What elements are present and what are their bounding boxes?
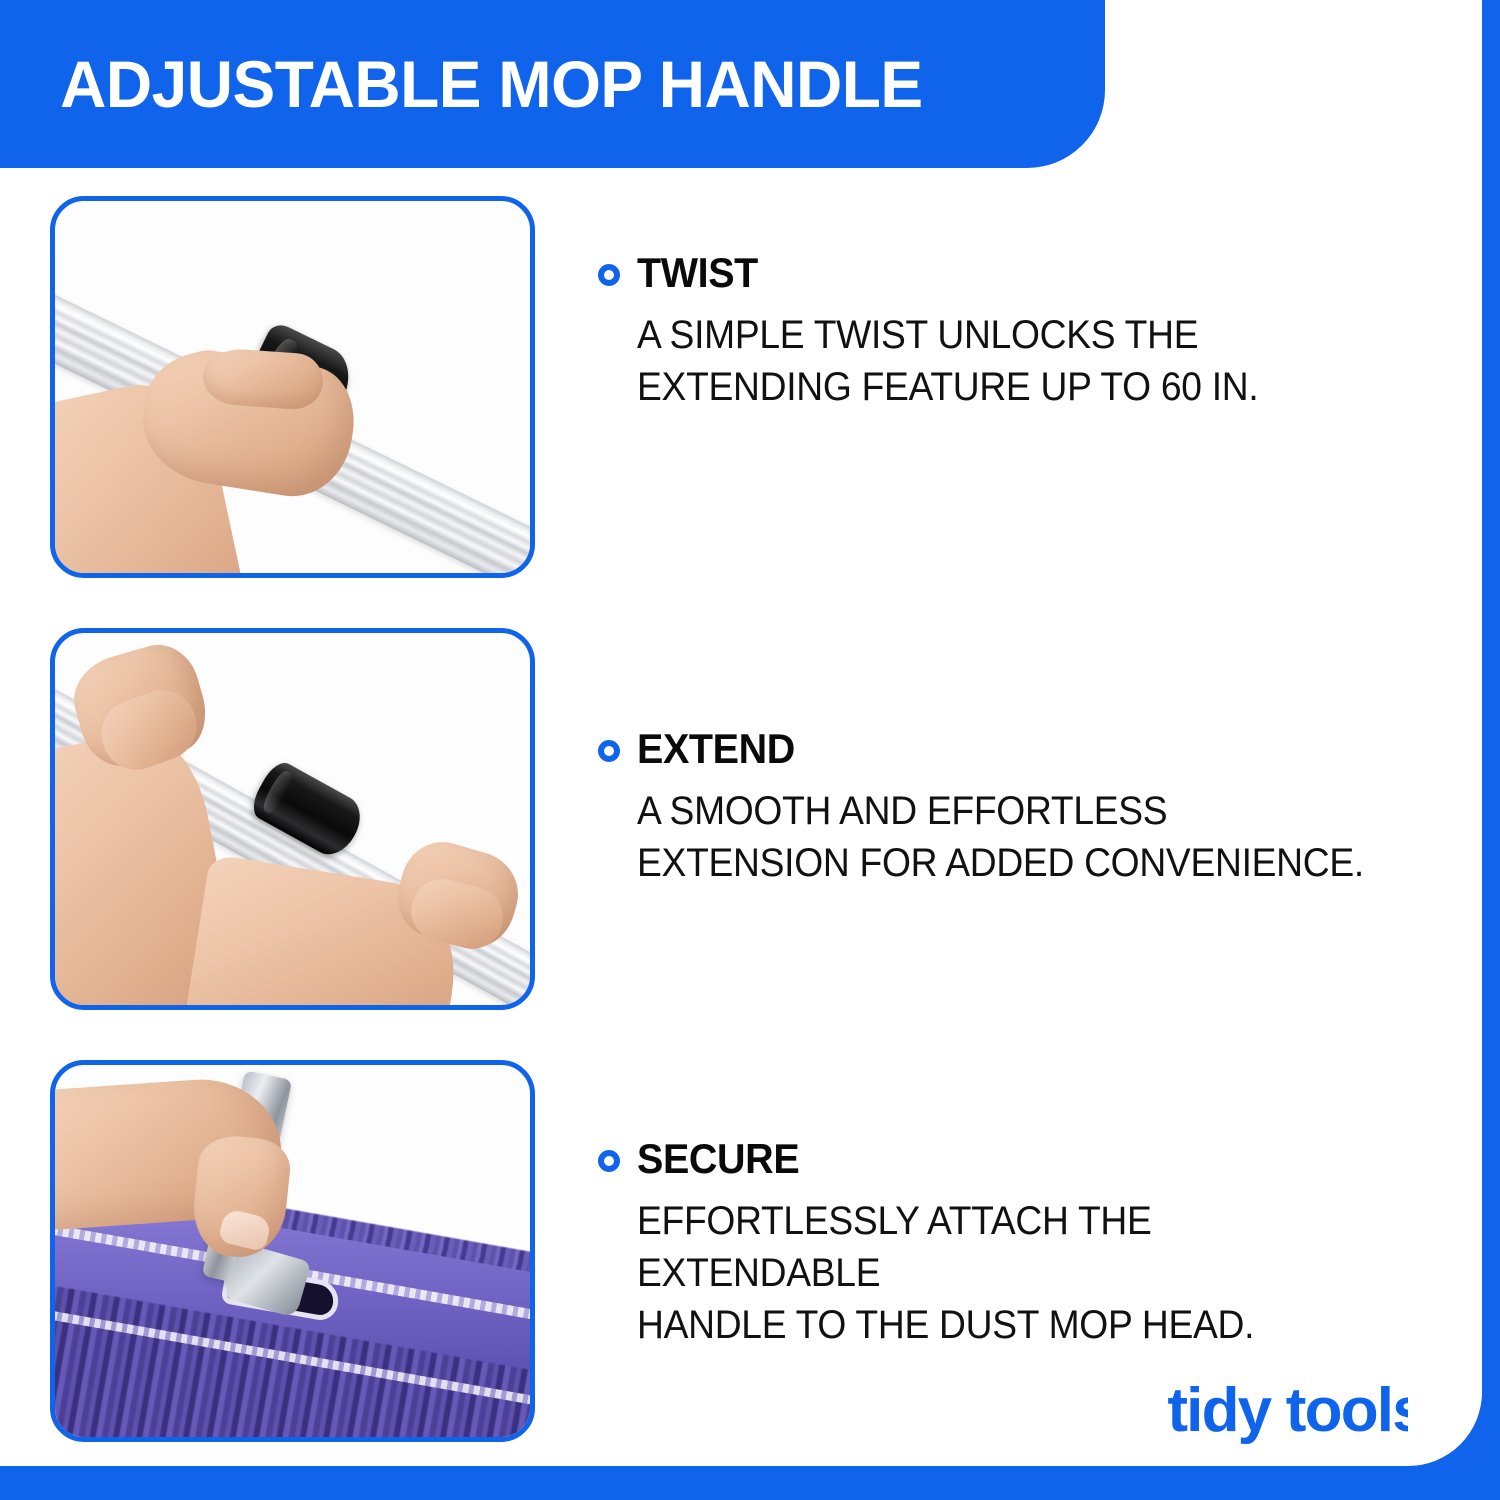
step-heading-row-twist: TWIST xyxy=(598,252,1460,294)
hand-twisting-collar-photo xyxy=(55,201,530,573)
frame-corner-notch xyxy=(1408,1392,1482,1466)
step-text-twist: TWIST A SIMPLE TWIST UNLOCKS THE EXTENDI… xyxy=(535,196,1500,413)
step-text-extend: EXTEND A SMOOTH AND EFFORTLESS EXTENSION… xyxy=(535,628,1500,889)
two-hands-extending-pole-photo xyxy=(55,633,530,1005)
step-photo-card-extend xyxy=(50,628,535,1010)
step-description-secure: EFFORTLESSLY ATTACH THE EXTENDABLE HANDL… xyxy=(637,1195,1402,1351)
frame-bottom-bar xyxy=(0,1466,1500,1500)
page-title: ADJUSTABLE MOP HANDLE xyxy=(0,51,923,117)
brand-logo-text: tidy tools xyxy=(1167,1376,1425,1445)
step-text-secure: SECURE EFFORTLESSLY ATTACH THE EXTENDABL… xyxy=(535,1060,1500,1351)
step-description-twist: A SIMPLE TWIST UNLOCKS THE EXTENDING FEA… xyxy=(637,309,1402,413)
step-title-secure: SECURE xyxy=(637,1138,799,1180)
step-photo-card-twist xyxy=(50,196,535,578)
frame-right-band xyxy=(1482,0,1500,1500)
infographic-page: ADJUSTABLE MOP HANDLE TWIST A SIMPLE TWI… xyxy=(0,0,1500,1500)
header-banner: ADJUSTABLE MOP HANDLE xyxy=(0,0,1105,168)
step-title-twist: TWIST xyxy=(637,252,758,294)
step-heading-row-secure: SECURE xyxy=(598,1138,1460,1180)
ring-bullet-icon xyxy=(598,740,620,762)
step-heading-row-extend: EXTEND xyxy=(598,728,1460,770)
step-twist: TWIST A SIMPLE TWIST UNLOCKS THE EXTENDI… xyxy=(0,196,1500,578)
ring-bullet-icon xyxy=(598,1150,620,1172)
step-title-extend: EXTEND xyxy=(637,728,795,770)
attaching-handle-to-dust-mop-head-photo xyxy=(55,1065,530,1437)
step-photo-card-secure xyxy=(50,1060,535,1442)
step-extend: EXTEND A SMOOTH AND EFFORTLESS EXTENSION… xyxy=(0,628,1500,1010)
ring-bullet-icon xyxy=(598,264,620,286)
brand-logo: tidy tools• xyxy=(1167,1380,1434,1442)
step-description-extend: A SMOOTH AND EFFORTLESS EXTENSION FOR AD… xyxy=(637,785,1402,889)
